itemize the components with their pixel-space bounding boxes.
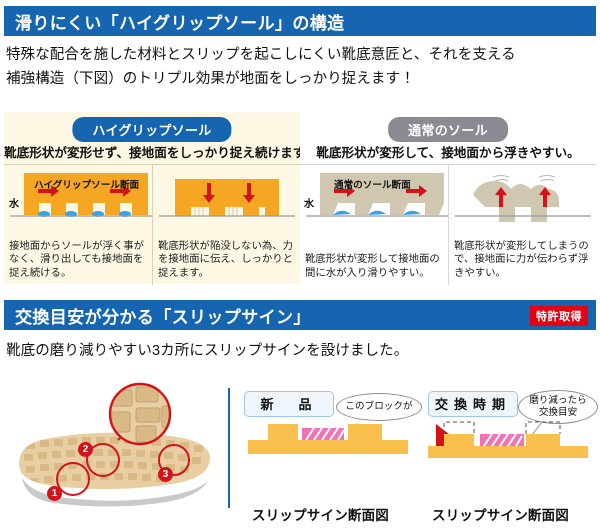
normal-sole-force-figure: [449, 165, 596, 227]
high-grip-caption-2: 靴底形状が陥没しない為、力を接地面に伝え、しっかりと捉えます。: [153, 240, 300, 281]
high-grip-force-figure: [153, 165, 300, 227]
high-grip-pill-label: ハイグリップソール: [72, 117, 231, 142]
sole-callout-3: 3: [158, 467, 173, 482]
section-1-lead-line-2: 補強構造（下図）のトリプル効果が地面をしっかり捉えます！: [6, 68, 415, 91]
normal-sole-subtitle: 靴底形状が変形して、接地面から浮きやすい。: [300, 142, 596, 161]
normal-sole-cell-force: 靴底形状が変形してしまうので、接地面に力が伝わらず浮きやすい。: [448, 165, 596, 285]
new-product-bubble: このブロックが: [336, 393, 422, 421]
high-grip-subtitle: 靴底形状が変形せず、接地面をしっかり捉え続けます。: [4, 142, 300, 161]
section-1-title: 滑りにくい「ハイグリップソール」の構造: [15, 9, 345, 34]
normal-sole-caption-1: 靴底形状が変形して接地面の間に水が入り滑りやすい。: [300, 253, 448, 281]
section-1-lead-line-1: 特殊な配合を施した材料とスリップを起こしにくい靴底意匠と、それを支える: [6, 44, 516, 67]
worn-product-label: 交換時期: [428, 391, 518, 417]
shoe-sole-illustration: [0, 382, 228, 531]
new-product-label: 新 品: [244, 391, 334, 417]
slip-sign-block: 1 2 3 新 品 このブロックが スリップサイン断面図 交換時期 磨り減ったら…: [0, 382, 600, 531]
section-1-header-bar: 滑りにくい「ハイグリップソール」の構造: [4, 6, 596, 36]
normal-sole-figure-cells: 水 通常のソール断面 靴底形状が変形して接地面の間に水が入り滑りやすい。: [300, 164, 596, 285]
section-2-title: 交換目安が分かる「スリップサイン」: [15, 303, 311, 328]
product-info-page: 滑りにくい「ハイグリップソール」の構造 特殊な配合を施した材料とスリップを起こし…: [0, 0, 600, 531]
high-grip-cell-water: 水 ハイグリップソール断面 接地面からソールが浮く事がなく、滑り出しても接地面を…: [4, 165, 152, 285]
worn-sole-caption: スリップサイン断面図: [432, 504, 569, 524]
high-grip-figure-cells: 水 ハイグリップソール断面 接地面からソールが浮く事がなく、滑り出しても接地面を…: [4, 164, 300, 285]
normal-sole-water-label: 水: [304, 195, 314, 210]
normal-sole-water-figure: 水 通常のソール断面: [300, 165, 448, 227]
sole-callout-1: 1: [47, 486, 62, 501]
sole-comparison-block: ハイグリップソール 靴底形状が変形せず、接地面をしっかり捉え続けます。: [4, 112, 596, 284]
normal-sole-caption-2: 靴底形状が変形してしまうので、接地面に力が伝わらず浮きやすい。: [449, 240, 596, 281]
high-grip-caption-1: 接地面からソールが浮く事がなく、滑り出しても接地面を捉え続ける。: [4, 240, 152, 281]
section-2-header-bar: 交換目安が分かる「スリップサイン」 特許取得: [4, 300, 596, 330]
worn-sole-cross-section: [420, 418, 600, 498]
high-grip-sole-panel: ハイグリップソール 靴底形状が変形せず、接地面をしっかり捉え続けます。: [4, 112, 300, 284]
high-grip-section-label: ハイグリップソール断面: [34, 177, 139, 191]
high-grip-water-figure: 水 ハイグリップソール断面: [4, 165, 152, 227]
normal-sole-cell-water: 水 通常のソール断面 靴底形状が変形して接地面の間に水が入り滑りやすい。: [300, 165, 448, 285]
vertical-divider: [228, 388, 230, 508]
high-grip-water-label: 水: [9, 195, 19, 210]
normal-sole-pill-label: 通常のソール: [388, 117, 508, 142]
high-grip-cell-force: 靴底形状が陥没しない為、力を接地面に伝え、しっかりと捉えます。: [152, 165, 300, 285]
section-2-lead: 靴底の磨り減りやすい3カ所にスリップサインを設けました。: [6, 340, 408, 363]
sole-callout-2: 2: [78, 442, 93, 457]
normal-sole-panel: 通常のソール 靴底形状が変形して、接地面から浮きやすい。: [300, 112, 596, 284]
patent-badge: 特許取得: [530, 306, 588, 326]
normal-sole-section-label: 通常のソール断面: [334, 177, 411, 191]
new-sole-caption: スリップサイン断面図: [252, 504, 389, 524]
